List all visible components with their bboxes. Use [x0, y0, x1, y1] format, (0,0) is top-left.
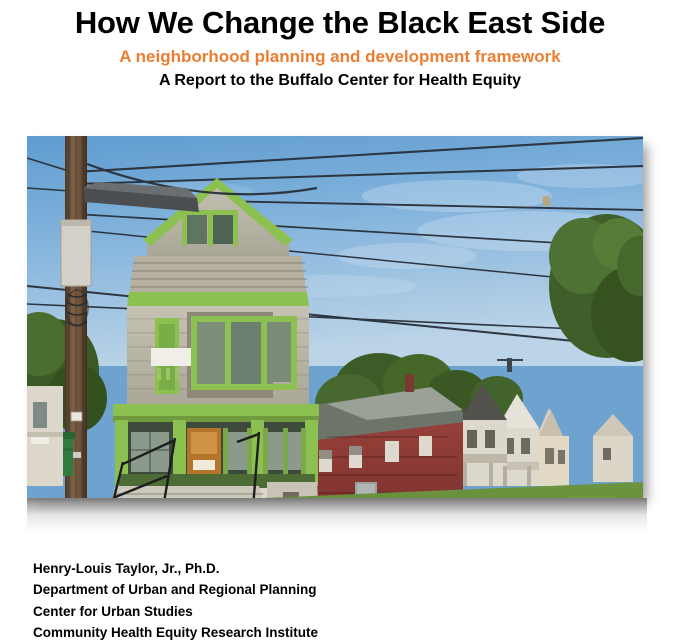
photo-drop-shadow — [27, 136, 643, 498]
photo-reflection-strip — [27, 498, 647, 532]
author-name: Henry-Louis Taylor, Jr., Ph.D. — [33, 558, 318, 579]
author-department: Department of Urban and Regional Plannin… — [33, 579, 318, 600]
report-attribution-line: A Report to the Buffalo Center for Healt… — [0, 72, 680, 90]
page-subtitle: A neighborhood planning and development … — [0, 48, 680, 67]
document-cover-page: { "header": { "title": "How We Change th… — [0, 0, 680, 638]
page-title: How We Change the Black East Side — [0, 6, 680, 41]
author-credit-block: Henry-Louis Taylor, Jr., Ph.D. Departmen… — [33, 558, 318, 643]
author-center: Center for Urban Studies — [33, 601, 318, 622]
cover-photo-frame — [27, 136, 643, 498]
cover-header: How We Change the Black East Side A neig… — [0, 0, 680, 90]
author-institute: Community Health Equity Research Institu… — [33, 622, 318, 643]
